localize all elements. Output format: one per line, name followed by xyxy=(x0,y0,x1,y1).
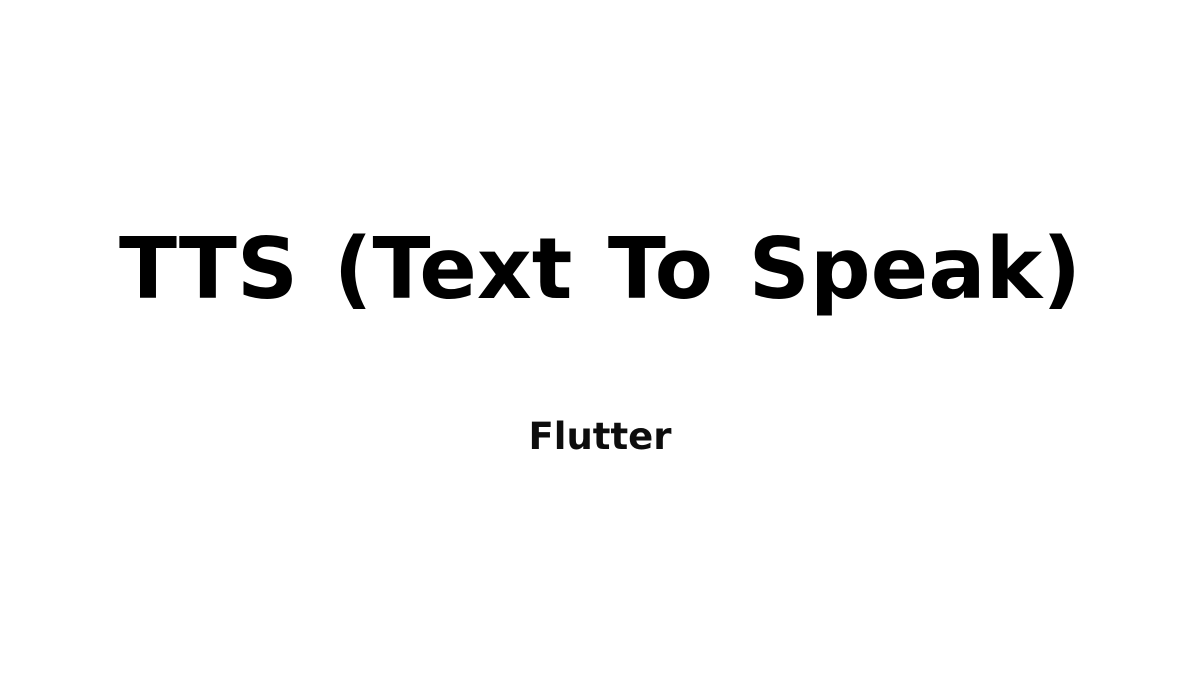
slide-content-area: TTS (Text To Speak) Flutter xyxy=(0,0,1200,675)
subtitle-placeholder: Flutter xyxy=(0,414,1200,460)
title-placeholder: TTS (Text To Speak) xyxy=(0,222,1200,318)
slide-subtitle: Flutter xyxy=(0,414,1200,460)
presentation-slide: TTS (Text To Speak) Flutter xyxy=(0,0,1200,675)
slide-title: TTS (Text To Speak) xyxy=(0,222,1200,318)
